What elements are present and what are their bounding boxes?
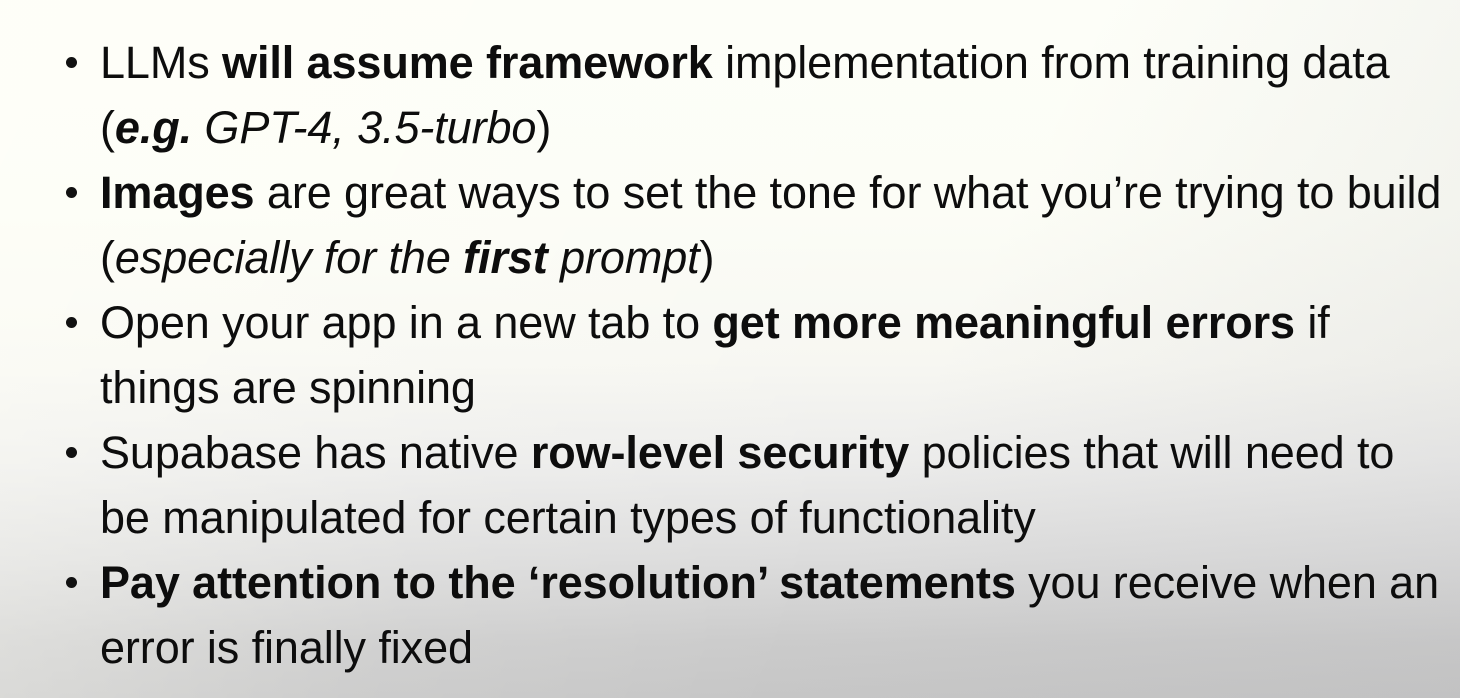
list-item: Supabase has native row-level security p…: [66, 420, 1450, 550]
text-run: first: [463, 232, 548, 283]
text-run: especially for the: [115, 232, 463, 283]
bullet-point-icon: [66, 187, 77, 198]
text-run: get more meaningful errors: [712, 297, 1295, 348]
list-item-text: Supabase has native row-level security p…: [100, 420, 1450, 550]
text-run: ): [536, 102, 551, 153]
list-item-text: Open your app in a new tab to get more m…: [100, 290, 1450, 420]
bullet-point-icon: [66, 57, 77, 68]
text-run: Supabase has native: [100, 427, 531, 478]
list-item: Pay attention to the ‘resolution’ statem…: [66, 550, 1450, 680]
text-run: prompt: [548, 232, 700, 283]
text-run: GPT-4, 3.5-turbo: [192, 102, 536, 153]
text-run: Images: [100, 167, 254, 218]
list-item-text: Images are great ways to set the tone fo…: [100, 160, 1450, 290]
list-item-text: Pay attention to the ‘resolution’ statem…: [100, 550, 1450, 680]
text-run: row-level security: [531, 427, 909, 478]
bullet-point-icon: [66, 317, 77, 328]
bullet-list: LLMs will assume framework implementatio…: [0, 0, 1460, 680]
list-item: Open your app in a new tab to get more m…: [66, 290, 1450, 420]
text-run: Pay attention to the ‘resolution’ statem…: [100, 557, 1016, 608]
slide-canvas: LLMs will assume framework implementatio…: [0, 0, 1460, 698]
text-run: e.g.: [115, 102, 192, 153]
list-item: LLMs will assume framework implementatio…: [66, 30, 1450, 160]
text-run: Open your app in a new tab to: [100, 297, 712, 348]
text-run: LLMs: [100, 37, 222, 88]
list-item: Images are great ways to set the tone fo…: [66, 160, 1450, 290]
text-run: will assume framework: [222, 37, 713, 88]
list-item-text: LLMs will assume framework implementatio…: [100, 30, 1450, 160]
bullet-point-icon: [66, 447, 77, 458]
bullet-point-icon: [66, 577, 77, 588]
text-run: ): [700, 232, 715, 283]
